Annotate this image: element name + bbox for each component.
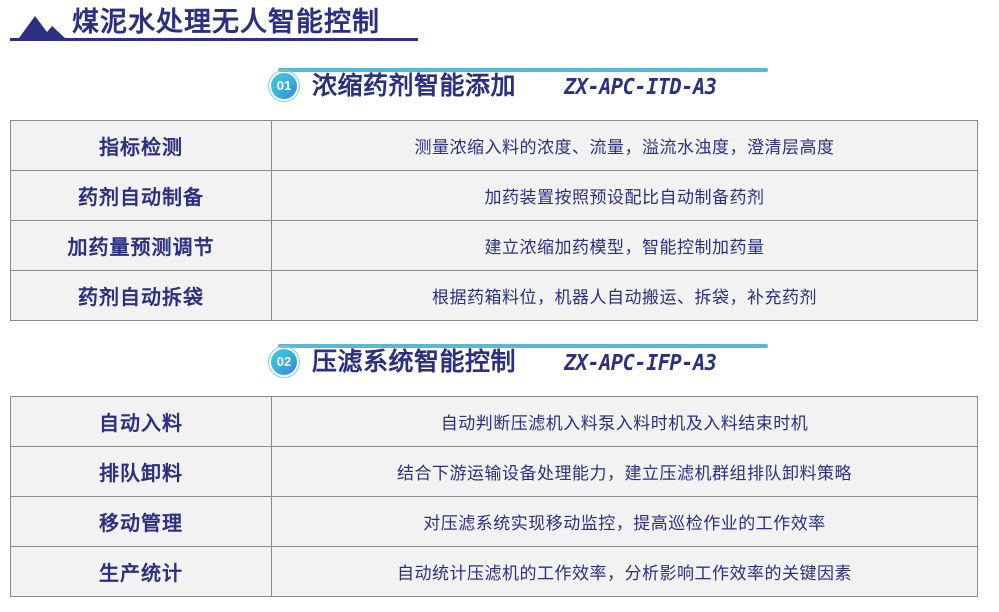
row-label: 生产统计 [11,547,272,597]
table-row: 药剂自动拆袋 根据药箱料位，机器人自动搬运、拆袋，补充药剂 [11,271,978,321]
section-code-1: ZX-APC-ITD-A3 [564,75,716,101]
table-row: 生产统计 自动统计压滤机的工作效率，分析影响工作效率的关键因素 [11,547,978,597]
row-label: 排队卸料 [11,447,272,497]
section-badge-01: 01 [268,70,302,104]
row-label: 移动管理 [11,497,272,547]
section-title-2: 压滤系统智能控制 [312,346,516,378]
table-row: 排队卸料 结合下游运输设备处理能力，建立压滤机群组排队卸料策略 [11,447,978,497]
row-description: 结合下游运输设备处理能力，建立压滤机群组排队卸料策略 [272,447,978,497]
page-title: 煤泥水处理无人智能控制 [72,6,380,40]
row-label: 药剂自动拆袋 [11,271,272,321]
table-row: 移动管理 对压滤系统实现移动监控，提高巡检作业的工作效率 [11,497,978,547]
mountain-icon [18,15,66,38]
row-label: 药剂自动制备 [11,171,272,221]
row-description: 对压滤系统实现移动监控，提高巡检作业的工作效率 [272,497,978,547]
table-row: 自动入料 自动判断压滤机入料泵入料时机及入料结束时机 [11,397,978,447]
spec-table-2: 自动入料 自动判断压滤机入料泵入料时机及入料结束时机 排队卸料 结合下游运输设备… [10,396,978,597]
row-description: 根据药箱料位，机器人自动搬运、拆袋，补充药剂 [272,271,978,321]
section-header-1: 01 浓缩药剂智能添加 ZX-APC-ITD-A3 [0,62,999,106]
row-description: 测量浓缩入料的浓度、流量，溢流水浊度，澄清层高度 [272,121,978,171]
row-description: 建立浓缩加药模型，智能控制加药量 [272,221,978,271]
row-description: 加药装置按照预设配比自动制备药剂 [272,171,978,221]
row-label: 加药量预测调节 [11,221,272,271]
section-header-2: 02 压滤系统智能控制 ZX-APC-IFP-A3 [0,338,999,382]
row-description: 自动统计压滤机的工作效率，分析影响工作效率的关键因素 [272,547,978,597]
section-code-2: ZX-APC-IFP-A3 [564,351,716,377]
section-title-1: 浓缩药剂智能添加 [312,70,516,102]
row-label: 指标检测 [11,121,272,171]
row-label: 自动入料 [11,397,272,447]
row-description: 自动判断压滤机入料泵入料时机及入料结束时机 [272,397,978,447]
spec-table-1: 指标检测 测量浓缩入料的浓度、流量，溢流水浊度，澄清层高度 药剂自动制备 加药装… [10,120,978,321]
section-badge-02: 02 [268,346,302,380]
title-underline [10,38,418,41]
badge-number: 02 [271,349,297,375]
page-header: 煤泥水处理无人智能控制 [10,6,420,42]
table-row: 加药量预测调节 建立浓缩加药模型，智能控制加药量 [11,221,978,271]
table-row: 指标检测 测量浓缩入料的浓度、流量，溢流水浊度，澄清层高度 [11,121,978,171]
badge-number: 01 [271,73,297,99]
slide-page: 煤泥水处理无人智能控制 01 浓缩药剂智能添加 ZX-APC-ITD-A3 指标… [0,0,999,612]
table-row: 药剂自动制备 加药装置按照预设配比自动制备药剂 [11,171,978,221]
